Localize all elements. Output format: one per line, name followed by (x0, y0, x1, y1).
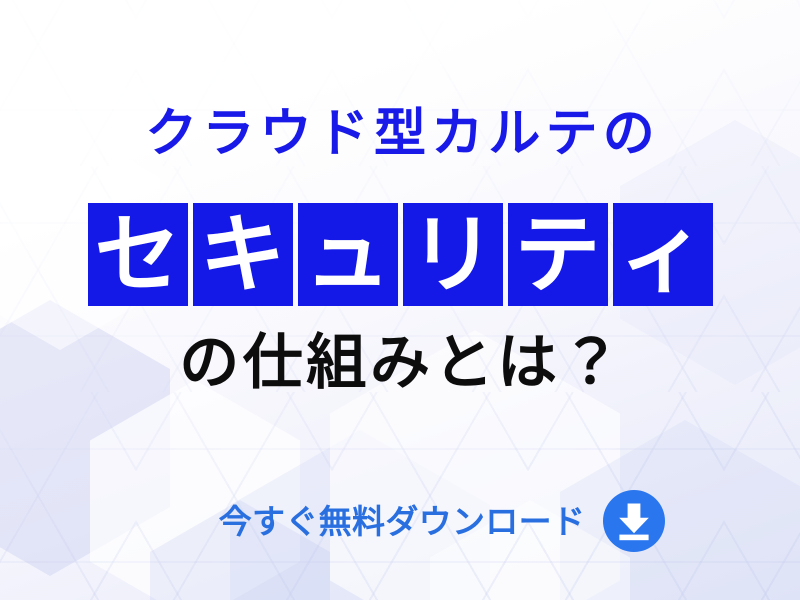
banner-root: クラウド型カルテの セ キ ュ リ テ ィ の仕組みとは？ 今すぐ無料ダウンロー… (0, 0, 800, 600)
download-circle-icon[interactable] (603, 490, 665, 552)
headline-line-2: セ キ ュ リ テ ィ (0, 203, 800, 306)
highlight-char-box: リ (403, 203, 503, 306)
highlight-char-box: ュ (298, 203, 398, 306)
highlight-char-box: テ (508, 203, 608, 306)
download-cta[interactable]: 今すぐ無料ダウンロード (0, 489, 800, 553)
highlight-char-box: キ (193, 203, 293, 306)
highlight-char-box: ィ (613, 203, 713, 306)
highlight-char-box: セ (88, 203, 188, 306)
download-cta-label: 今すぐ無料ダウンロード (219, 505, 586, 538)
headline-line-1: クラウド型カルテの (0, 108, 800, 160)
banner-content: クラウド型カルテの セ キ ュ リ テ ィ の仕組みとは？ 今すぐ無料ダウンロー… (0, 0, 800, 600)
headline-line-3: の仕組みとは？ (0, 327, 800, 399)
